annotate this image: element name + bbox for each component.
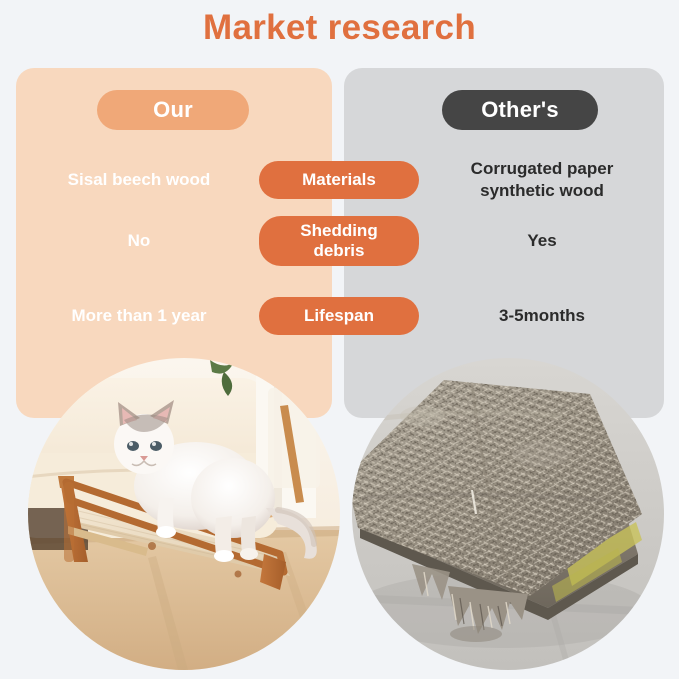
page-title: Market research: [0, 8, 679, 48]
table-row: More than 1 year Lifespan 3-5months: [0, 288, 679, 344]
other-value-shedding: Yes: [420, 230, 664, 252]
product-photo-our: [28, 358, 340, 670]
column-header-our: Our: [97, 90, 249, 130]
table-row: No Shedding debris Yes: [0, 213, 679, 269]
feature-pill-lifespan: Lifespan: [259, 297, 419, 335]
our-value-lifespan: More than 1 year: [16, 305, 262, 326]
column-header-other-label: Other's: [481, 97, 559, 123]
column-header-our-label: Our: [153, 97, 193, 123]
our-value-materials: Sisal beech wood: [16, 169, 262, 190]
product-photo-other: [352, 358, 664, 670]
other-value-materials: Corrugated paper synthetic wood: [420, 158, 664, 202]
cat-on-wooden-scratcher-illustration: [28, 358, 340, 670]
worn-cardboard-scratcher-illustration: [352, 358, 664, 670]
other-value-lifespan: 3-5months: [420, 305, 664, 327]
market-research-infographic: Market research Our Other's Sisal beech …: [0, 0, 679, 679]
feature-pill-shedding: Shedding debris: [259, 216, 419, 265]
feature-pill-materials: Materials: [259, 161, 419, 199]
our-value-shedding: No: [16, 230, 262, 251]
column-header-other: Other's: [442, 90, 598, 130]
table-row: Sisal beech wood Materials Corrugated pa…: [0, 152, 679, 208]
